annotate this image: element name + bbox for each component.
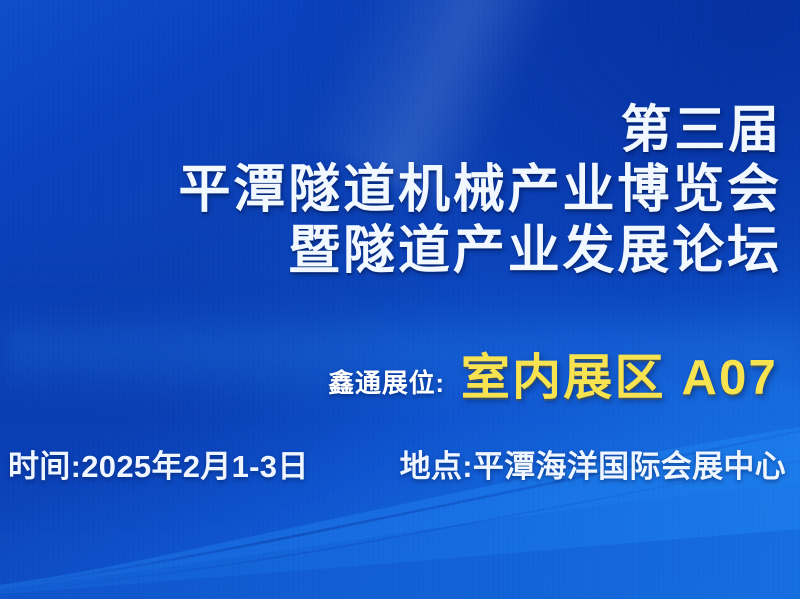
event-date: 时间:2025年2月1-3日 (8, 441, 309, 486)
banner-content: 第三届 平潭隧道机械产业博览会 暨隧道产业发展论坛 鑫通展位: 室内展区 A07… (0, 0, 800, 599)
exhibition-banner: 第三届 平潭隧道机械产业博览会 暨隧道产业发展论坛 鑫通展位: 室内展区 A07… (0, 0, 800, 599)
title-line-expo-name: 平潭隧道机械产业博览会 (0, 164, 782, 216)
title-line-edition: 第三届 (0, 104, 782, 155)
event-venue: 地点:平潭海洋国际会展中心 (400, 441, 786, 486)
meta-row: 时间:2025年2月1-3日 地点:平潭海洋国际会展中心 (8, 441, 786, 486)
booth-label: 鑫通展位: (328, 363, 445, 400)
booth-number: 室内展区 A07 (461, 338, 778, 409)
title-line-forum-name: 暨隧道产业发展论坛 (0, 225, 782, 277)
title-block: 第三届 平潭隧道机械产业博览会 暨隧道产业发展论坛 (0, 104, 782, 277)
booth-row: 鑫通展位: 室内展区 A07 (0, 338, 778, 409)
